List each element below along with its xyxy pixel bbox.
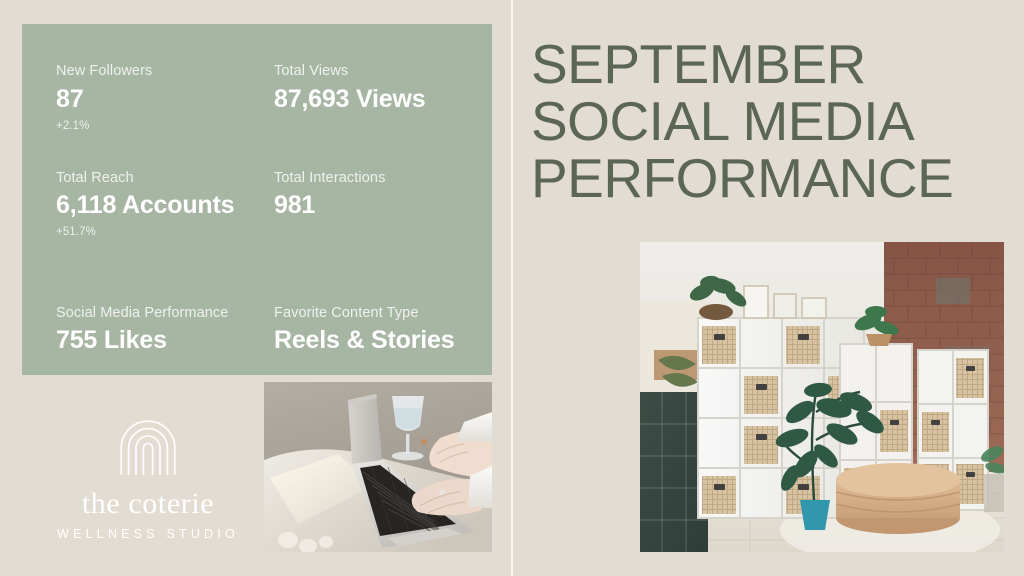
page-title: September Social Media Performance bbox=[531, 36, 1009, 208]
social-media-report-slide: New Followers 87 +2.1% Total Views 87,69… bbox=[0, 0, 1024, 576]
stat-value: 755 Likes bbox=[56, 324, 274, 357]
laptop-photo-graphic bbox=[264, 382, 492, 552]
brand-logo: the coterie WELLNESS STUDIO bbox=[48, 418, 248, 541]
stat-total-reach: Total Reach 6,118 Accounts +51.7% bbox=[56, 145, 274, 252]
stat-total-views: Total Views 87,693 Views bbox=[274, 62, 468, 145]
studio-photo bbox=[640, 242, 1004, 552]
stat-value: 87 bbox=[56, 83, 274, 116]
stat-label: Social Media Performance bbox=[56, 304, 274, 324]
headline-line-3: Performance bbox=[531, 150, 1009, 207]
studio-photo-graphic bbox=[640, 242, 1004, 552]
headline-line-1: September bbox=[531, 36, 1009, 93]
laptop-photo bbox=[264, 382, 492, 552]
stat-label: Total Reach bbox=[56, 169, 274, 189]
headline-line-2: Social Media bbox=[531, 93, 1009, 150]
stat-value: 6,118 Accounts bbox=[56, 189, 274, 222]
stat-value: Reels & Stories bbox=[274, 324, 468, 357]
logo-tagline: WELLNESS STUDIO bbox=[57, 528, 239, 541]
stat-label: New Followers bbox=[56, 62, 274, 82]
stat-new-followers: New Followers 87 +2.1% bbox=[56, 62, 274, 145]
stats-grid: New Followers 87 +2.1% Total Views 87,69… bbox=[56, 62, 468, 367]
nested-arch-icon bbox=[118, 418, 178, 476]
stat-label: Total Views bbox=[274, 62, 468, 82]
stats-panel: New Followers 87 +2.1% Total Views 87,69… bbox=[22, 24, 492, 375]
stat-value: 981 bbox=[274, 189, 468, 222]
vertical-divider bbox=[511, 0, 513, 576]
stat-social-media-performance: Social Media Performance 755 Likes bbox=[56, 252, 274, 368]
stat-favorite-content-type: Favorite Content Type Reels & Stories bbox=[274, 252, 468, 368]
stat-delta: +51.7% bbox=[56, 224, 274, 241]
stat-value: 87,693 Views bbox=[274, 83, 468, 116]
stat-total-interactions: Total Interactions 981 bbox=[274, 145, 468, 252]
stat-label: Total Interactions bbox=[274, 169, 468, 189]
stat-label: Favorite Content Type bbox=[274, 304, 468, 324]
logo-wordmark: the coterie bbox=[82, 489, 214, 519]
stat-delta: +2.1% bbox=[56, 118, 274, 135]
